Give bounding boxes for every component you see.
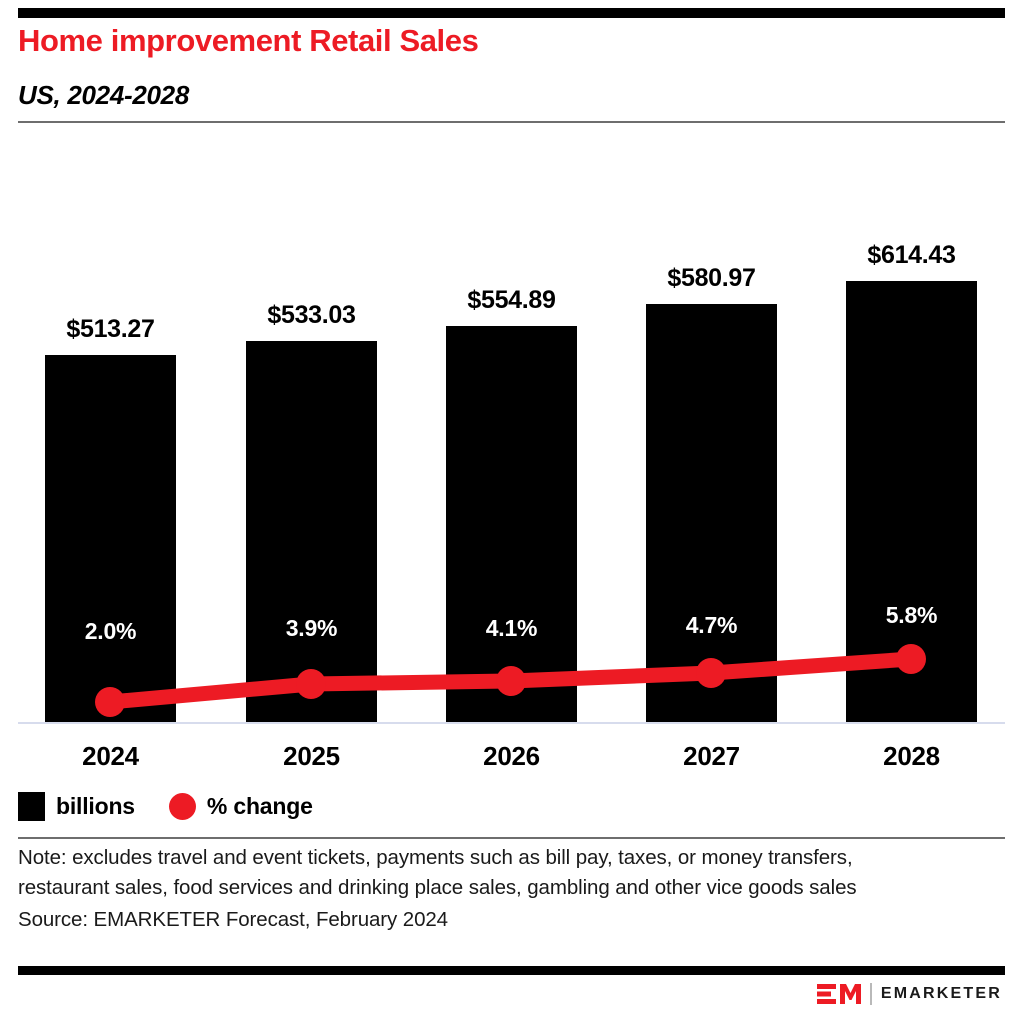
- bottom-rule: [18, 966, 1005, 975]
- bar-2024: [45, 355, 176, 722]
- note-text: Note: excludes travel and event tickets,…: [18, 843, 938, 903]
- x-axis-tick-2025: 2025: [246, 741, 377, 772]
- x-axis-tick-2024: 2024: [45, 741, 176, 772]
- bar-2028: [846, 281, 977, 722]
- footnotes: Note: excludes travel and event tickets,…: [18, 843, 938, 935]
- bar-2026: [446, 326, 577, 722]
- brand-wordmark: EMARKETER: [881, 985, 1002, 1003]
- pct-change-label-2027: 4.7%: [646, 612, 777, 639]
- pct-change-label-2025: 3.9%: [246, 615, 377, 642]
- axis-baseline: [18, 722, 1005, 724]
- bar-value-label-2028: $614.43: [846, 241, 977, 270]
- pct-change-label-2026: 4.1%: [446, 615, 577, 642]
- legend-divider: [18, 837, 1005, 839]
- pct-change-label-2028: 5.8%: [846, 602, 977, 629]
- bar-value-label-2025: $533.03: [246, 301, 377, 330]
- x-axis-tick-2026: 2026: [446, 741, 577, 772]
- source-text: Source: EMARKETER Forecast, February 202…: [18, 905, 938, 935]
- brand-logo: EMARKETER: [817, 982, 1002, 1006]
- brand-divider: [870, 983, 872, 1005]
- legend-item-pct-change: % change: [169, 793, 313, 820]
- bar-value-label-2026: $554.89: [446, 286, 577, 315]
- square-swatch-icon: [18, 792, 45, 821]
- bar-value-label-2024: $513.27: [45, 315, 176, 344]
- emarketer-mark-icon: [817, 982, 861, 1006]
- bar-2027: [646, 304, 777, 722]
- x-axis-tick-2027: 2027: [646, 741, 777, 772]
- circle-swatch-icon: [169, 793, 196, 820]
- pct-change-label-2024: 2.0%: [45, 618, 176, 645]
- legend-item-billions: billions: [18, 792, 135, 821]
- bar-2025: [246, 341, 377, 722]
- legend-label-pct-change: % change: [207, 793, 313, 820]
- chart-legend: billions % change: [18, 792, 313, 821]
- x-axis-tick-2028: 2028: [846, 741, 977, 772]
- bar-value-label-2027: $580.97: [646, 264, 777, 293]
- legend-label-billions: billions: [56, 793, 135, 820]
